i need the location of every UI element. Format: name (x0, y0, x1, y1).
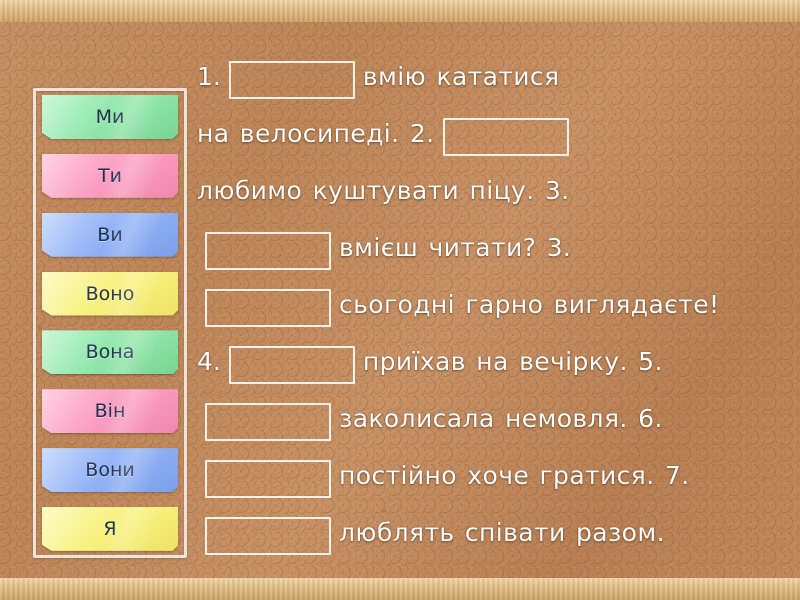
blank-slot-8[interactable] (205, 517, 331, 555)
item-number-1: 1. (197, 62, 221, 91)
sentence-fragment-1: вмію кататися (363, 62, 560, 91)
wooden-frame-top (0, 0, 800, 22)
word-card-label: Я (103, 518, 116, 540)
blank-slot-3[interactable] (205, 232, 331, 270)
cork-board: Ми Ти Ви Воно Вона Він Вони Я 1.вмію кат… (0, 0, 800, 600)
word-card-label: Ми (96, 106, 125, 128)
word-card-label: Воно (86, 283, 135, 305)
sentence-fragment-4: вмієш читати? 3. (339, 233, 571, 262)
blank-slot-2[interactable] (443, 118, 569, 156)
word-card-vy[interactable]: Ви (42, 213, 178, 257)
word-card-label: Вони (85, 459, 134, 481)
blank-slot-7[interactable] (205, 460, 331, 498)
item-number-4: 4. (197, 347, 221, 376)
cork-surface: Ми Ти Ви Воно Вона Він Вони Я 1.вмію кат… (0, 22, 800, 578)
word-card-vony[interactable]: Вони (42, 448, 178, 492)
word-card-vono[interactable]: Воно (42, 272, 178, 316)
word-card-vona[interactable]: Вона (42, 330, 178, 374)
sentence-fragment-6: приїхав на вечірку. 5. (363, 347, 663, 376)
word-card-label: Ти (98, 165, 122, 187)
sentence-fragment-8: постійно хоче гратися. 7. (339, 461, 690, 490)
word-card-my[interactable]: Ми (42, 95, 178, 139)
sentence-fragment-2: на велосипеді. 2. (197, 119, 435, 148)
word-card-label: Вона (86, 341, 135, 363)
wooden-frame-bottom (0, 578, 800, 600)
blank-slot-5[interactable] (229, 346, 355, 384)
fill-in-the-blank-exercise: 1.вмію кататисяна велосипеді. 2.любимо к… (197, 48, 786, 561)
sentence-fragment-9: люблять співати разом. (339, 518, 665, 547)
word-card-label: Ви (97, 224, 122, 246)
blank-slot-4[interactable] (205, 289, 331, 327)
word-card-label: Він (95, 400, 126, 422)
blank-slot-1[interactable] (229, 61, 355, 99)
word-card-vin[interactable]: Він (42, 389, 178, 433)
pronoun-word-bank: Ми Ти Ви Воно Вона Він Вони Я (33, 88, 187, 558)
blank-slot-6[interactable] (205, 403, 331, 441)
sentence-fragment-7: заколисала немовля. 6. (339, 404, 663, 433)
sentence-fragment-5: сьогодні гарно виглядаєте! (339, 290, 719, 319)
word-card-ya[interactable]: Я (42, 507, 178, 551)
sentence-fragment-3: любимо куштувати піцу. 3. (197, 176, 570, 205)
word-card-ty[interactable]: Ти (42, 154, 178, 198)
